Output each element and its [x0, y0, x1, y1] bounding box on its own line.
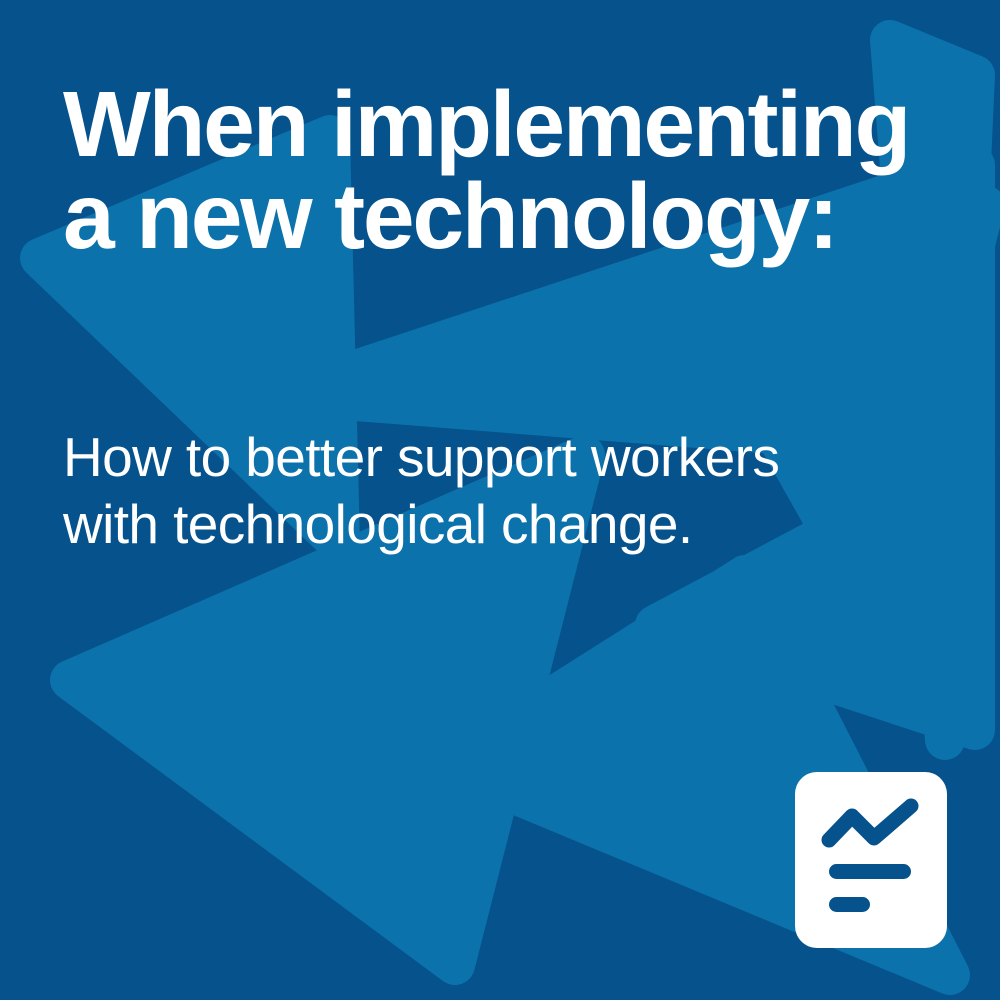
text-bar-short-icon [829, 897, 870, 912]
report-chart-document-icon [795, 772, 947, 948]
page-subtitle: How to better support workers with techn… [63, 424, 863, 558]
social-card-canvas: When implementing a new technology: How … [0, 0, 1000, 1000]
text-bar-long-icon [829, 864, 911, 879]
page-title: When implementing a new technology: [63, 78, 943, 262]
trend-line-icon [829, 806, 911, 840]
